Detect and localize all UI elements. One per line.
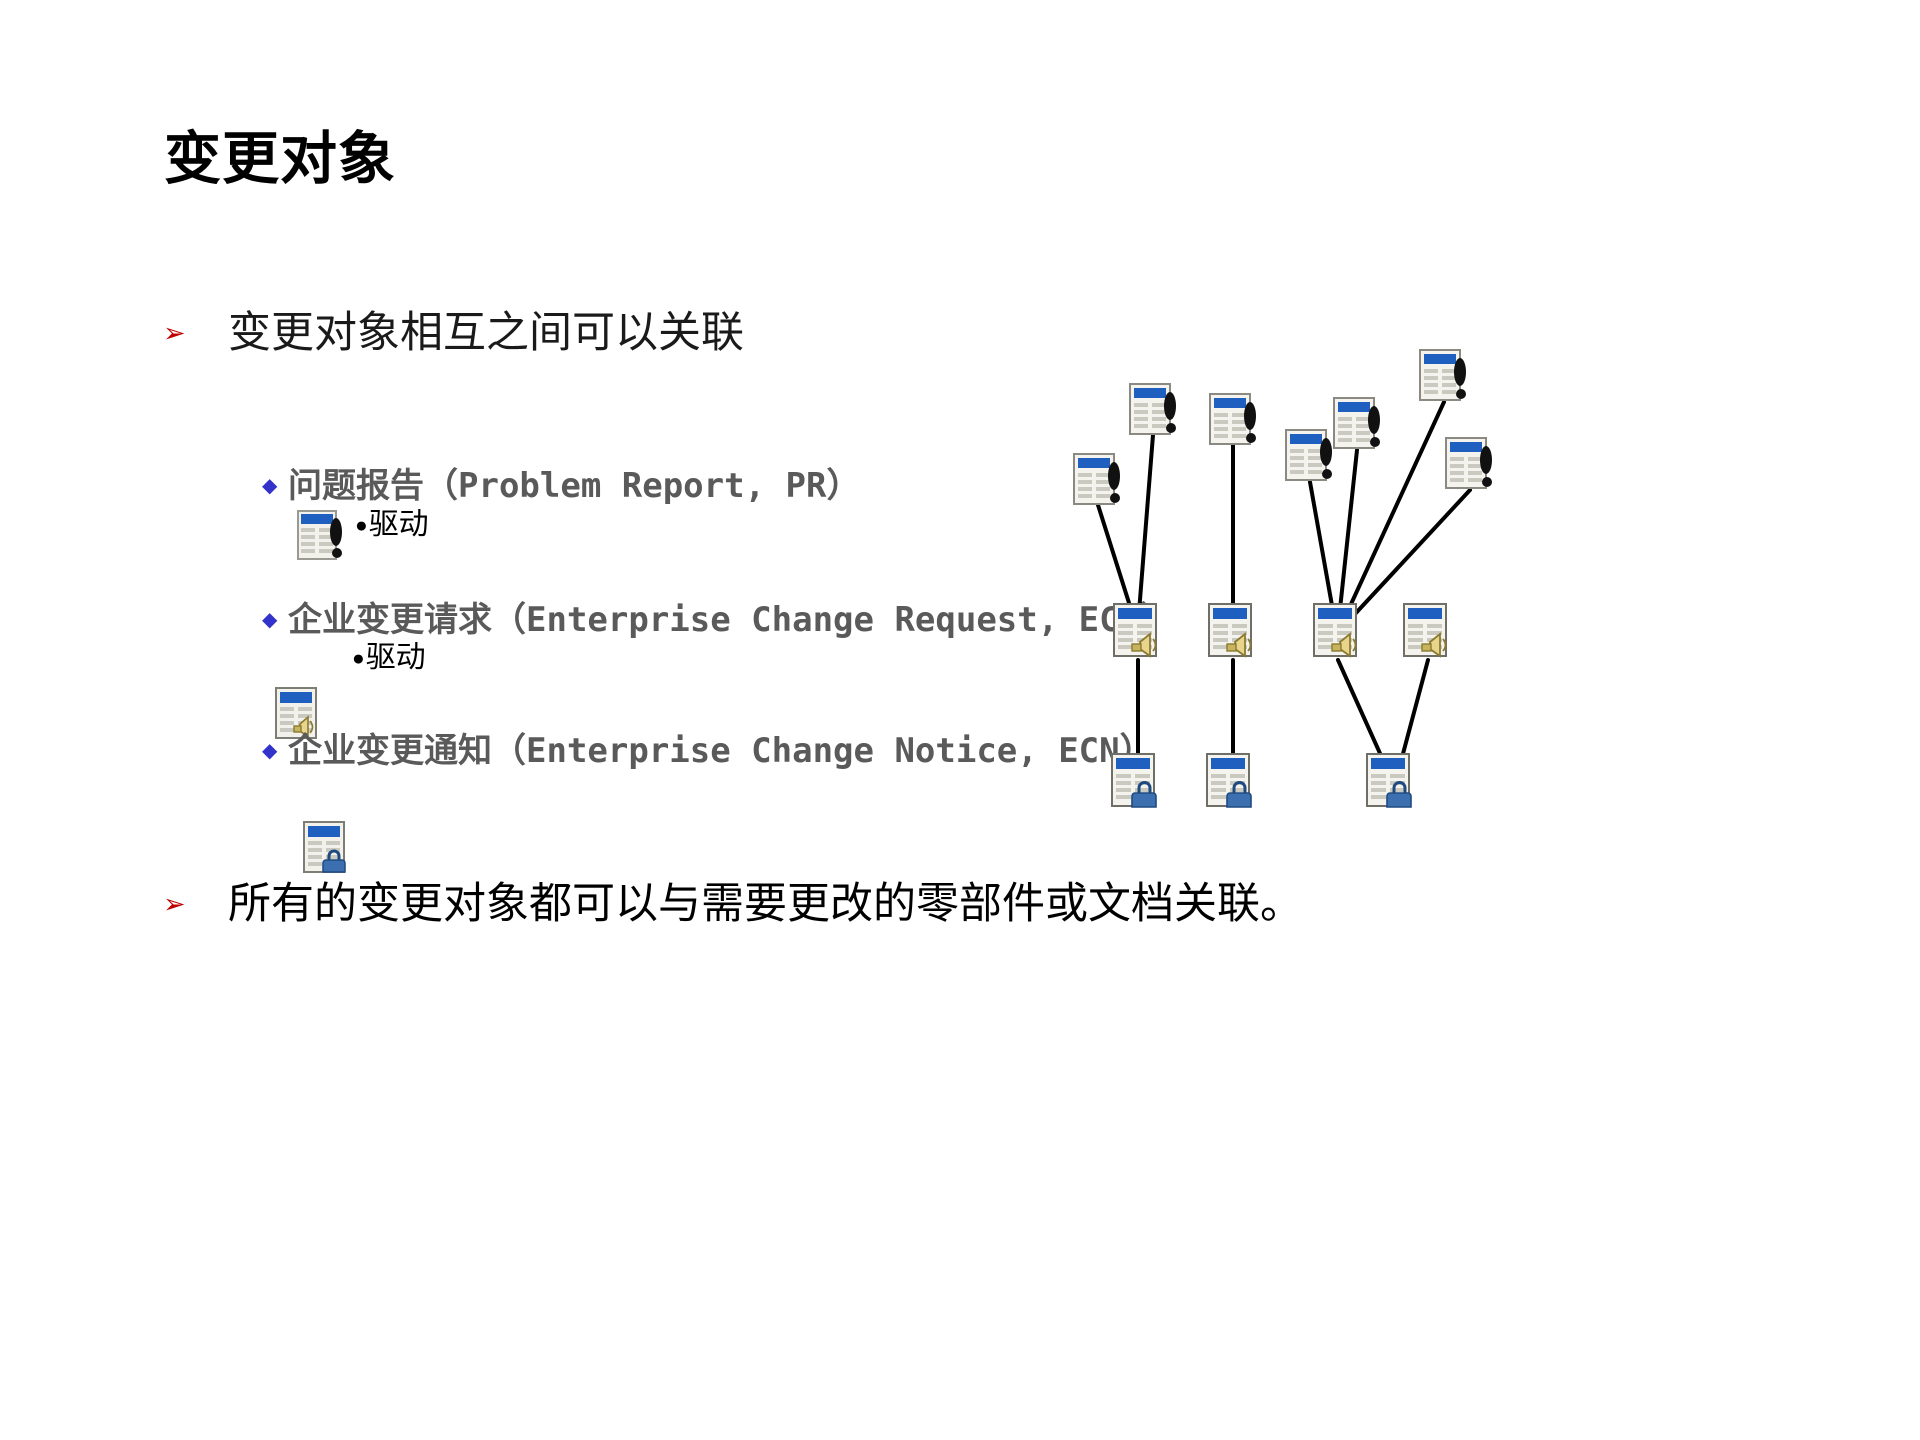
bullet-item-primary: ➢ 所有的变更对象都可以与需要更改的零部件或文档关联。 <box>160 878 1303 930</box>
arrow-bullet-icon: ➢ <box>160 307 197 359</box>
round-bullet-icon: ● <box>352 640 365 676</box>
sub-bullet-problem-report: ◆ 问题报告（Problem Report, PR） <box>262 463 860 509</box>
drive-note-label: 驱动 <box>366 640 426 676</box>
change-request-icon <box>302 820 358 878</box>
problem-report-icon <box>296 508 348 564</box>
arrow-bullet-icon: ➢ <box>160 878 197 930</box>
diamond-bullet-icon: ◆ <box>262 597 288 643</box>
diamond-bullet-icon: ◆ <box>262 728 288 774</box>
drive-note: ● 驱动 <box>355 507 429 543</box>
round-bullet-icon: ● <box>355 507 368 543</box>
bullet-item-primary: ➢ 变更对象相互之间可以关联 <box>160 307 744 359</box>
diamond-bullet-icon: ◆ <box>262 463 288 509</box>
bullet-label: 所有的变更对象都可以与需要更改的零部件或文档关联。 <box>197 878 1303 930</box>
change-object-relationship-diagram <box>1020 330 1660 870</box>
slide-canvas: 变更对象 ➢ 变更对象相互之间可以关联 ◆ 问题报告（Problem Repor… <box>0 0 1920 1440</box>
drive-note-label: 驱动 <box>369 507 429 543</box>
sub-bullet-label: 问题报告（Problem Report, PR） <box>288 463 860 509</box>
bullet-label: 变更对象相互之间可以关联 <box>197 307 744 359</box>
drive-note: ● 驱动 <box>352 640 426 676</box>
page-title: 变更对象 <box>164 128 396 191</box>
